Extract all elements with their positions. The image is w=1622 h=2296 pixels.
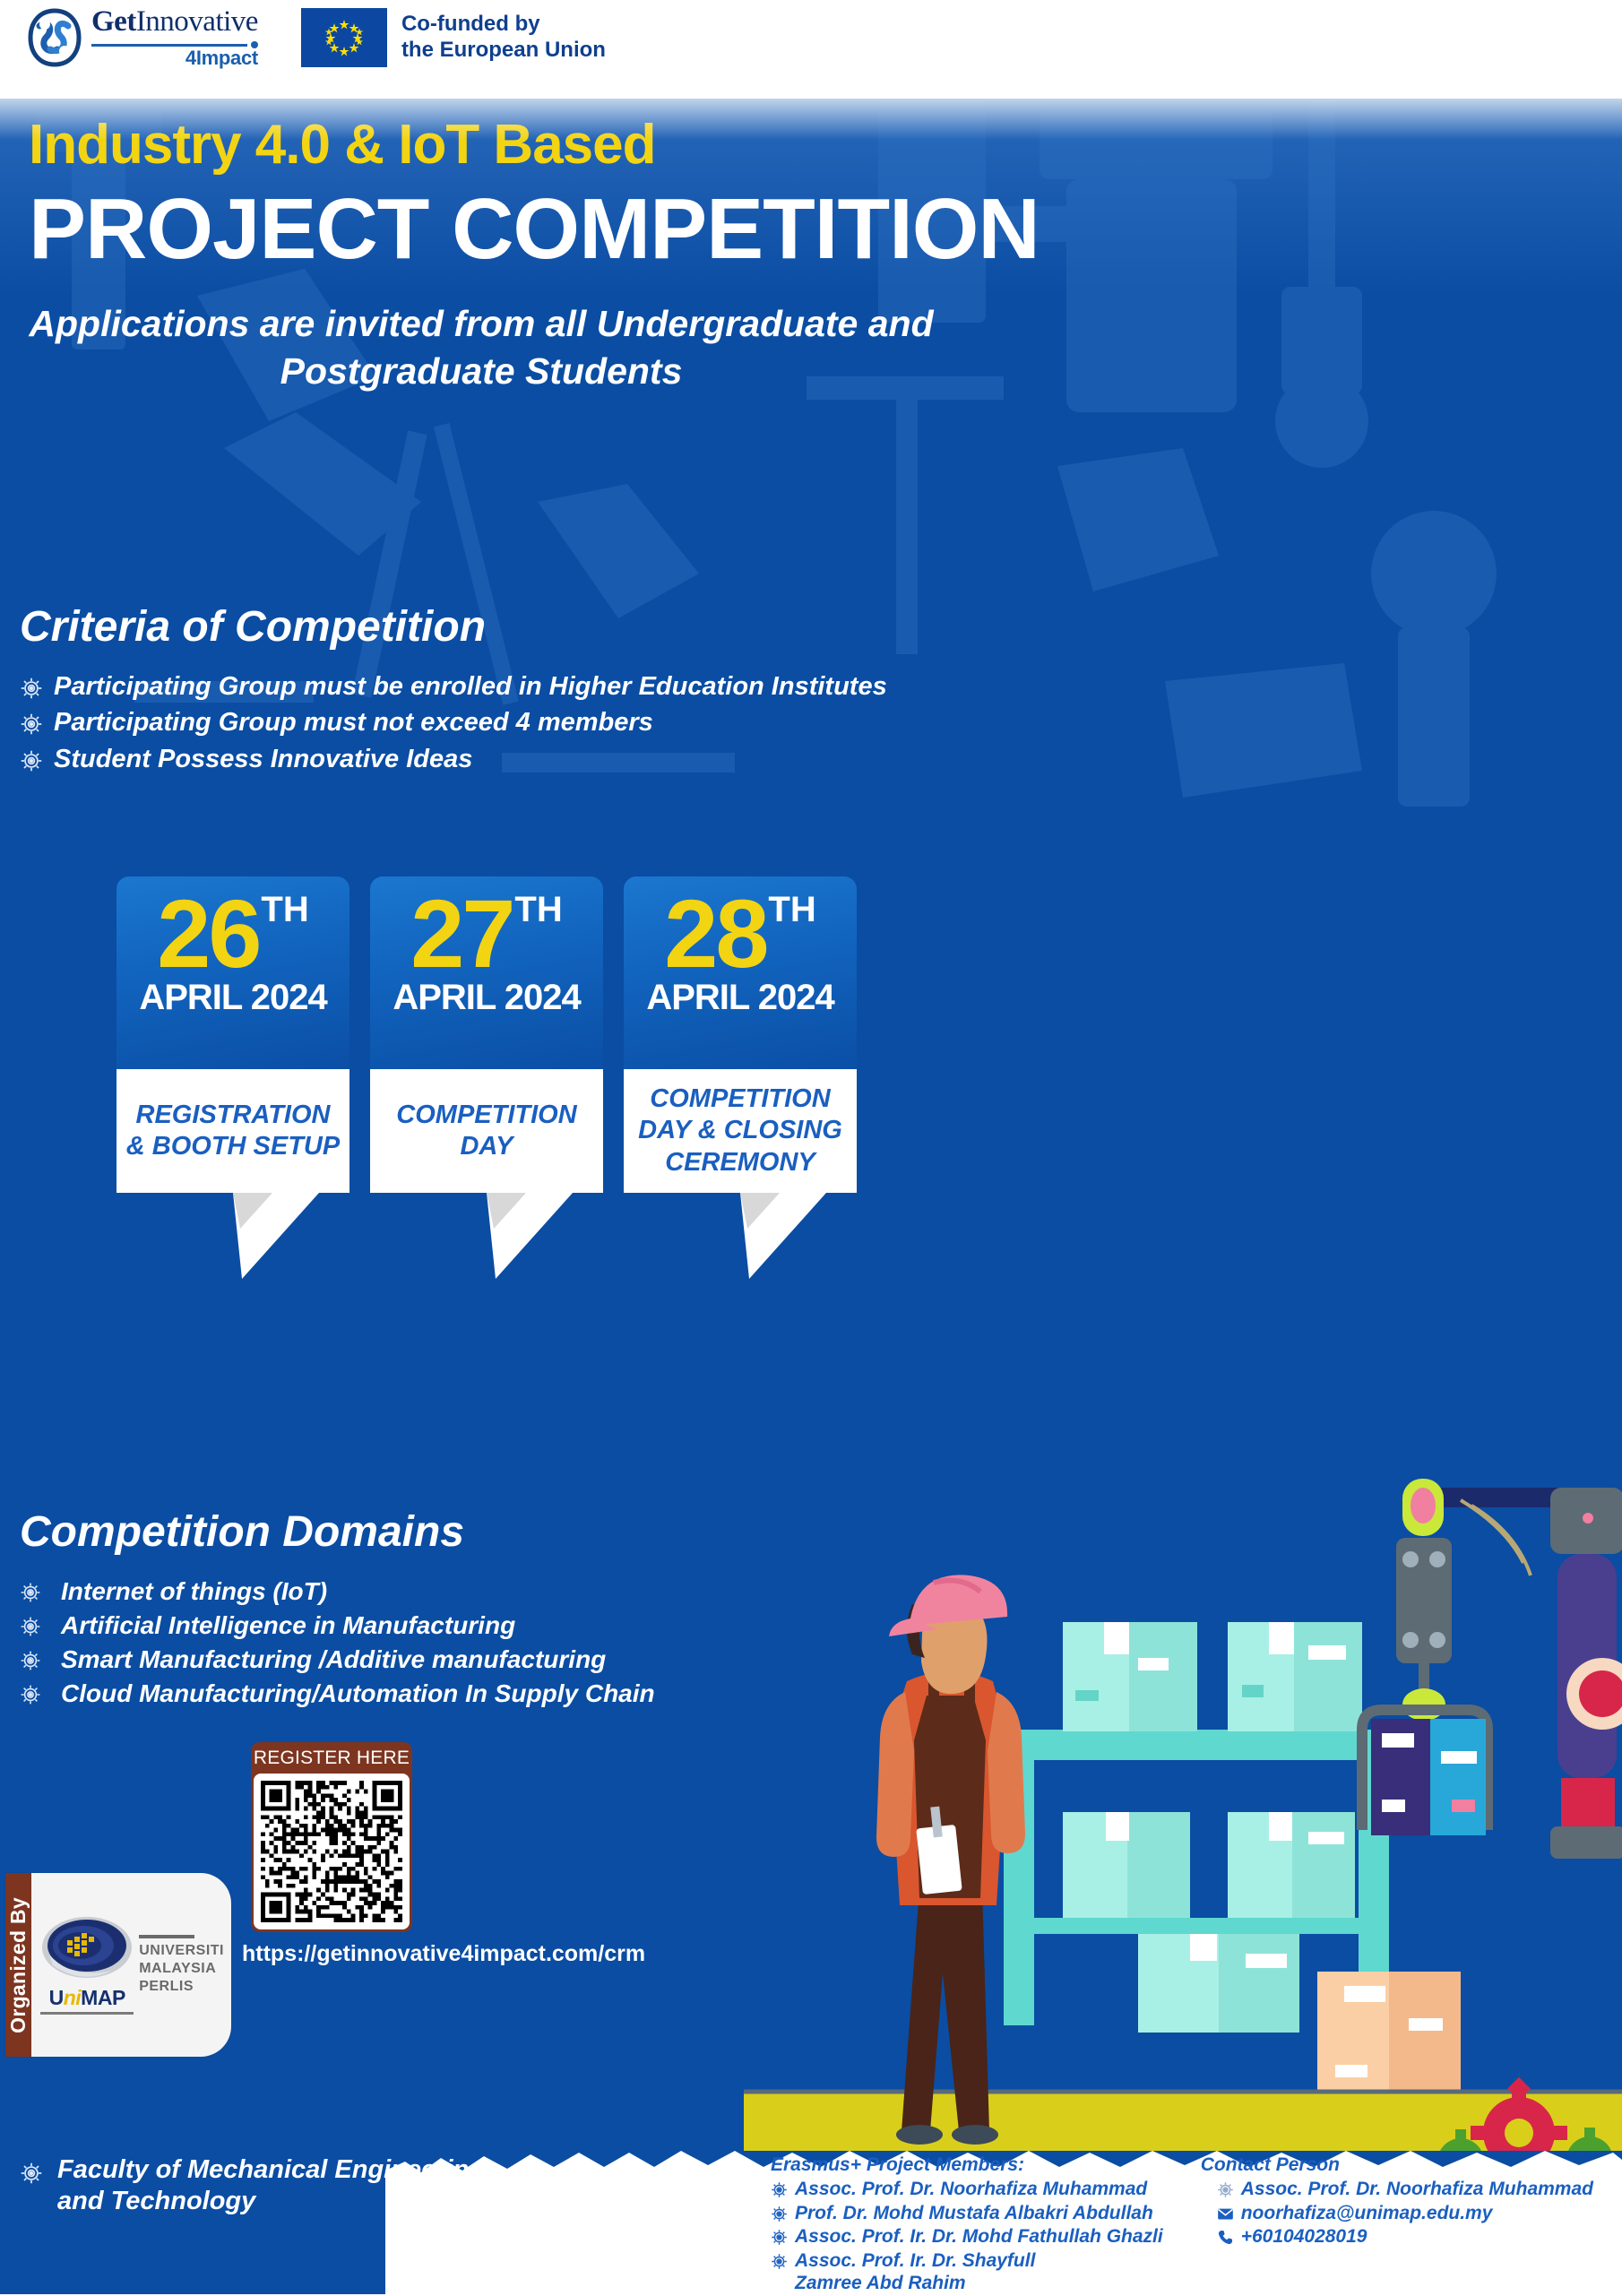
domains-heading: Competition Domains [20,1507,655,1557]
brand-4impact: 4Impact [91,48,258,68]
date-day: 27 [410,891,513,976]
criteria-heading: Criteria of Competition [20,602,887,652]
gear-icon [20,1616,41,1637]
date-card-label: COMPETITION DAY [379,1100,594,1163]
hero-invitation: Applications are invited from all Underg… [29,300,934,396]
contact-phone[interactable]: +60104028019 [1241,2225,1367,2249]
date-card-top: 27 TH APRIL 2024 [370,876,603,1069]
member-name: Assoc. Prof. Ir. Dr. Shayfull Zamree Abd… [795,2249,1064,2295]
project-members-column: Erasmus+ Project Members: Assoc. Prof. D… [771,2154,1163,2296]
register-block[interactable]: REGISTER HERE https://getinnovative4impa… [242,1742,421,1966]
date-month-year: APRIL 2024 [139,978,326,1018]
university-name-line1: UNIVERSITI [139,1942,224,1960]
gear-icon [771,2253,788,2270]
list-item: Participating Group must not exceed 4 me… [20,707,887,738]
date-day: 28 [664,891,766,976]
list-item: Student Possess Innovative Ideas [20,744,887,775]
university-name: UNIVERSITI MALAYSIA PERLIS [139,1935,224,1996]
date-card-label-box: REGISTRATION & BOOTH SETUP [116,1069,349,1193]
eu-text-line1: Co-funded by [401,12,606,38]
date-month-year: APRIL 2024 [646,978,833,1018]
gear-icon [771,2205,788,2223]
organized-by-label: Organized By [6,1897,30,2033]
gear-icon [20,1582,41,1603]
contact-title: Contact Person [1201,2154,1593,2176]
date-cards: 26 TH APRIL 2024 REGISTRATION & BOOTH SE… [116,876,857,1193]
member-row: Assoc. Prof. Dr. Noorhafiza Muhammad [771,2178,1163,2201]
qr-code-image[interactable] [261,1781,402,1922]
register-badge: REGISTER HERE [251,1742,412,1774]
list-item: Internet of things (IoT) [20,1576,655,1607]
speech-tail [740,1193,826,1279]
member-name: Prof. Dr. Mohd Mustafa Albakri Abdullah [795,2202,1153,2225]
domain-item-text: Cloud Manufacturing/Automation In Supply… [61,1679,655,1709]
date-card: 27 TH APRIL 2024 COMPETITION DAY [370,876,603,1193]
date-card-top: 26 TH APRIL 2024 [116,876,349,1069]
unimap-emblem-icon [40,1915,134,1983]
date-card-label: COMPETITION DAY & CLOSING CEREMONY [633,1083,848,1178]
speech-tail [233,1193,319,1279]
university-name-line2: MALAYSIA [139,1960,224,1978]
eu-cofunding-logo: Co-funded by the European Union [301,8,606,67]
eu-flag-icon [301,8,387,67]
qr-card[interactable]: REGISTER HERE [251,1742,412,1932]
domain-item-text: Artificial Intelligence in Manufacturing [61,1610,515,1641]
date-ordinal: TH [768,894,815,926]
footer: Erasmus+ Project Members: Assoc. Prof. D… [0,2115,1622,2294]
member-name: Assoc. Prof. Ir. Dr. Mohd Fathullah Ghaz… [795,2225,1163,2249]
gear-icon [20,712,43,736]
criteria-item-text: Student Possess Innovative Ideas [54,744,472,775]
hero-title: PROJECT COMPETITION [29,180,1194,279]
date-ordinal: TH [261,894,308,926]
gear-icon [20,749,43,773]
member-row: Prof. Dr. Mohd Mustafa Albakri Abdullah [771,2202,1163,2225]
date-card-label-box: COMPETITION DAY & CLOSING CEREMONY [624,1069,857,1193]
contact-email-row[interactable]: noorhafiza@unimap.edu.my [1217,2202,1593,2225]
member-row: Assoc. Prof. Ir. Dr. Shayfull Zamree Abd… [771,2249,1163,2295]
university-name-line3: PERLIS [139,1978,224,1996]
list-item: Smart Manufacturing /Additive manufactur… [20,1644,655,1675]
contact-name-row: Assoc. Prof. Dr. Noorhafiza Muhammad [1217,2178,1593,2201]
date-day: 26 [157,891,259,976]
organized-by-bar: Organized By [5,1873,31,2057]
criteria-item-text: Participating Group must not exceed 4 me… [54,707,653,738]
date-month-year: APRIL 2024 [393,978,580,1018]
list-item: Participating Group must be enrolled in … [20,671,887,703]
envelope-icon [1217,2205,1234,2223]
date-card: 28 TH APRIL 2024 COMPETITION DAY & CLOSI… [624,876,857,1193]
date-card-top: 28 TH APRIL 2024 [624,876,857,1069]
contact-phone-row[interactable]: +60104028019 [1217,2225,1593,2249]
gear-icon [20,677,43,700]
contact-name: Assoc. Prof. Dr. Noorhafiza Muhammad [1241,2178,1593,2201]
domain-item-text: Smart Manufacturing /Additive manufactur… [61,1644,606,1675]
contact-email[interactable]: noorhafiza@unimap.edu.my [1241,2202,1493,2225]
domains-list: Internet of things (IoT) Artificial Inte… [20,1576,655,1710]
domains-section: Competition Domains Internet of things (… [20,1507,655,1713]
phone-icon [1217,2229,1234,2246]
date-card-label: REGISTRATION & BOOTH SETUP [125,1100,341,1163]
unimap-wordmark: UniMAP [40,1986,134,2010]
register-url: https://getinnovative4impact.com/crm [242,1941,421,1966]
date-card-label-box: COMPETITION DAY [370,1069,603,1193]
header-band: GetInnovative 4Impact [0,0,1622,99]
qr-code-wrapper[interactable] [254,1774,410,1929]
speech-tail [487,1193,573,1279]
date-ordinal: TH [514,894,562,926]
getinnovative-logo: GetInnovative 4Impact [27,7,258,68]
criteria-list: Participating Group must be enrolled in … [20,671,887,775]
gear-icon [20,1684,41,1705]
hero-section: Industry 4.0 & IoT Based PROJECT COMPETI… [29,113,1194,396]
brand-innovative: Innovative [136,5,258,38]
organizer-box: Organized By UniMAP [5,1873,231,2057]
domain-item-text: Internet of things (IoT) [61,1576,327,1607]
criteria-item-text: Participating Group must be enrolled in … [54,671,887,703]
getinnovative-mark-icon [27,8,82,67]
gear-icon [771,2181,788,2198]
eu-text-line2: the European Union [401,38,606,64]
member-row: Assoc. Prof. Ir. Dr. Mohd Fathullah Ghaz… [771,2225,1163,2249]
list-item: Artificial Intelligence in Manufacturing [20,1610,655,1641]
unimap-logo: UniMAP [40,1915,134,2015]
contact-column: Contact Person Assoc. Prof. Dr. Noorhafi… [1201,2154,1593,2296]
factory-illustration [744,1470,1622,2151]
gear-icon [20,1650,41,1671]
list-item: Cloud Manufacturing/Automation In Supply… [20,1679,655,1709]
criteria-section: Criteria of Competition Participating Gr… [20,602,887,780]
member-name: Assoc. Prof. Dr. Noorhafiza Muhammad [795,2178,1147,2201]
gear-icon [771,2229,788,2246]
gear-icon [1217,2181,1234,2198]
date-card: 26 TH APRIL 2024 REGISTRATION & BOOTH SE… [116,876,349,1193]
brand-get: Get [91,5,136,38]
members-title: Erasmus+ Project Members: [771,2154,1163,2176]
